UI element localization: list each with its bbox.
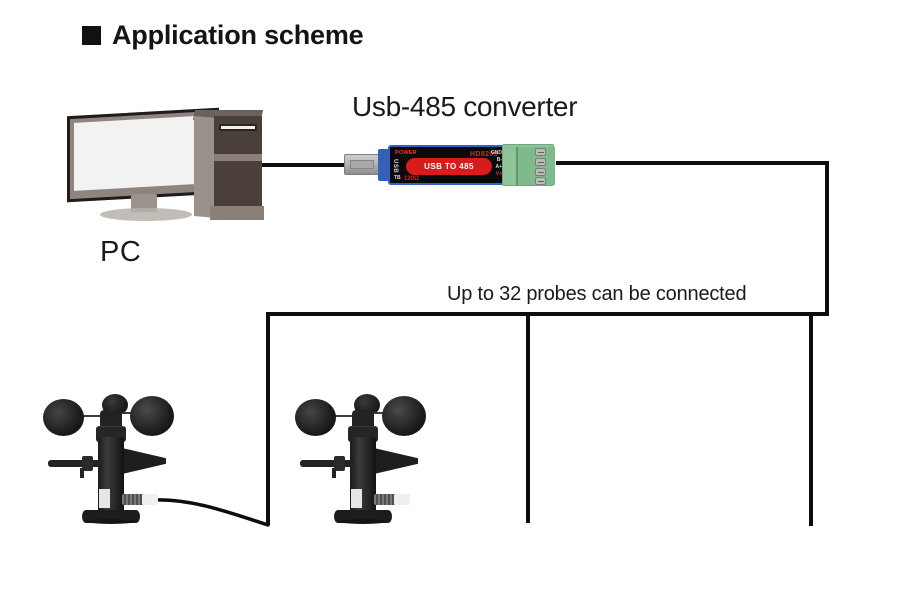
vane-arm-stub xyxy=(80,468,84,478)
terminal-screw xyxy=(535,177,546,185)
page-heading: Application scheme xyxy=(82,22,363,49)
cable-connector-metal xyxy=(374,494,396,505)
vane-counterweight-arm xyxy=(300,460,354,467)
bus-wire-right-riser xyxy=(825,161,829,316)
bus-capacity-caption: Up to 32 probes can be connected xyxy=(444,283,749,306)
converter-badge: USB TO 485 xyxy=(406,158,492,175)
usb-side-label: USB xyxy=(392,159,398,173)
terminal-pin-labels: GND B- A+ V+ xyxy=(491,150,502,177)
usb-485-converter: POWER HD8205 USB USB TO 485 120Ω TB GND … xyxy=(344,143,560,187)
terminal-screw xyxy=(535,158,546,166)
square-bullet-icon xyxy=(82,26,101,45)
tower-side-panel xyxy=(194,116,216,218)
tb-label: TB xyxy=(394,175,401,181)
page-title: Application scheme xyxy=(112,22,363,49)
cable-connector-metal xyxy=(122,494,144,505)
bus-drop-probe-1 xyxy=(266,312,270,525)
converter-badge-label: USB TO 485 xyxy=(424,162,474,171)
tower-foot xyxy=(210,206,264,220)
wind-vane-notch xyxy=(418,448,430,474)
bus-drop-probe-2 xyxy=(526,312,530,523)
bus-wire-horizontal-trunk xyxy=(266,312,829,316)
pc-label: PC xyxy=(100,236,141,269)
anemometer-cup-left xyxy=(295,399,336,436)
application-scheme-diagram: Application scheme Usb-485 converter PC … xyxy=(0,0,900,612)
bus-wire-top xyxy=(556,161,829,165)
power-led-label: POWER xyxy=(395,150,417,156)
pc-illustration xyxy=(62,108,277,233)
anemometer-cup-right xyxy=(130,396,174,436)
tower-drive-slot xyxy=(219,124,257,131)
sensor-mounting-flange xyxy=(334,510,392,523)
sensor-mounting-flange xyxy=(82,510,140,523)
vane-counterweight-arm xyxy=(48,460,102,467)
terminal-screw xyxy=(535,168,546,176)
sensor-nameplate xyxy=(351,489,362,508)
anemometer-cup-right xyxy=(382,396,426,436)
anemometer-probe-1 xyxy=(38,390,228,535)
wind-vane-notch xyxy=(166,448,178,474)
screw-terminal-block xyxy=(502,144,554,186)
converter-pcb: POWER HD8205 USB USB TO 485 120Ω TB GND … xyxy=(388,145,506,185)
bus-drop-probe-3 xyxy=(809,312,813,526)
tower-front-panel xyxy=(214,116,262,219)
sensor-nameplate xyxy=(99,489,110,508)
terminal-screw xyxy=(535,148,546,156)
anemometer-probe-2 xyxy=(290,390,480,535)
cable-connector-sleeve xyxy=(394,494,410,505)
converter-caption: Usb-485 converter xyxy=(352,91,577,123)
cable-connector-sleeve xyxy=(142,494,158,505)
termination-label: 120Ω xyxy=(404,176,419,182)
anemometer-cup-left xyxy=(43,399,84,436)
pin-label-gnd: GND xyxy=(491,150,502,156)
tower-band xyxy=(214,154,262,161)
usb-a-plug xyxy=(344,154,382,175)
monitor-base xyxy=(100,208,192,221)
vane-arm-stub xyxy=(332,468,336,478)
monitor-screen xyxy=(74,115,212,191)
